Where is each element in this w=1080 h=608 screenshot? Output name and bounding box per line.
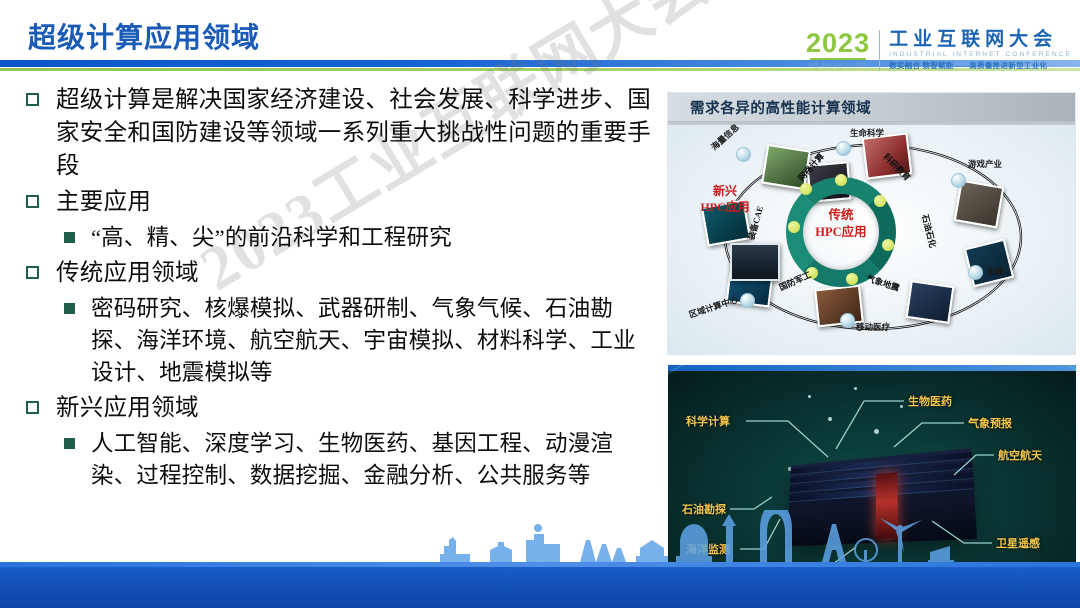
outer-label-gaming: 游戏产业: [968, 158, 1002, 170]
bullet-square-solid-icon: [64, 438, 75, 449]
city-skyline-graphic: [430, 510, 970, 562]
outer-label-mobile-health: 移动医疗: [856, 321, 890, 333]
page-title: 超级计算应用领域: [28, 16, 260, 56]
bullet-square-hollow-icon: [26, 93, 39, 106]
server-rack-icon: [730, 243, 780, 281]
emerging-hpc-line2: HPC应用: [700, 200, 749, 214]
orbit-node-icon: [836, 141, 851, 156]
callout-label-scientific-computing: 科学计算: [686, 413, 730, 429]
hpc-domains-diagram: 需求各异的高性能计算领域 传统 HP: [667, 92, 1076, 355]
bullet-list: 超级计算是解决国家经济建设、社会发展、科学进步、国家安全和国防建设等领域一系列重…: [26, 84, 656, 495]
conference-logo: 2023 中国·苏州 8月11日-13日 工业互联网大会 INDUSTRIAL …: [806, 30, 1072, 71]
list-item: 人工智能、深度学习、生物医药、基因工程、动漫渲染、过程控制、数据挖掘、金融分析、…: [64, 428, 656, 492]
callout-label-biopharma: 生物医药: [908, 393, 952, 409]
list-item-label: 密码研究、核爆模拟、武器研制、气象气候、石油勘探、海洋环境、航空航天、宇宙模拟、…: [91, 293, 656, 389]
list-item: 主要应用: [26, 186, 656, 219]
logo-year-underline: [810, 58, 866, 60]
list-item: 超级计算是解决国家经济建设、社会发展、科学进步、国家安全和国防建设等领域一系列重…: [26, 84, 656, 183]
bullet-square-hollow-icon: [26, 266, 39, 279]
emerging-hpc-line1: 新兴: [713, 184, 737, 198]
bottom-banner: [0, 562, 1080, 608]
diagram-header-bar: 需求各异的高性能计算领域: [668, 93, 1075, 125]
list-item: 传统应用领域: [26, 257, 656, 290]
orbit-node-icon: [968, 265, 983, 280]
ring-node-icon: [874, 195, 886, 207]
logo-year: 2023: [806, 30, 870, 57]
callout-label-aerospace: 航空航天: [998, 447, 1042, 463]
bullet-square-solid-icon: [64, 303, 75, 314]
ring-center-line1: 传统: [828, 208, 853, 222]
logo-name-en: INDUSTRIAL INTERNET CONFERENCE: [889, 51, 1072, 58]
logo-name-block: 工业互联网大会 INDUSTRIAL INTERNET CONFERENCE 数…: [889, 30, 1072, 71]
outer-label-life-science: 生命科学: [850, 127, 884, 139]
orbit-node-icon: [736, 147, 751, 162]
logo-year-block: 2023 中国·苏州 8月11日-13日: [806, 30, 879, 69]
diagram-title: 需求各异的高性能计算领域: [690, 97, 871, 118]
bullet-square-hollow-icon: [26, 401, 39, 414]
callout-label-satellite-remote-sensing: 卫星遥感: [996, 535, 1040, 551]
list-item-label: 人工智能、深度学习、生物医药、基因工程、动漫渲染、过程控制、数据挖掘、金融分析、…: [91, 428, 656, 492]
diagram-canvas: 传统 HPC应用 新兴 HPC应用 网格计算 科研教育 石油石化 气象地震 国防…: [668, 125, 1075, 355]
list-item-label: 主要应用: [56, 186, 151, 219]
orbit-node-icon: [840, 313, 855, 328]
ring-node-icon: [800, 183, 812, 195]
ring-node-icon: [846, 273, 858, 285]
logo-divider: [879, 30, 880, 71]
banner-highlight: [0, 562, 1080, 567]
list-item-label: 新兴应用领域: [56, 392, 199, 425]
list-item-label: “高、精、尖”的前沿科学和工程研究: [91, 222, 452, 254]
list-item: 新兴应用领域: [26, 392, 656, 425]
logo-place-date: 中国·苏州 8月11日-13日: [806, 62, 870, 69]
callout-label-weather-forecast: 气象预报: [968, 415, 1012, 431]
logo-name-cn: 工业互联网大会: [889, 30, 1072, 50]
orbit-node-icon: [740, 293, 755, 308]
bullet-square-hollow-icon: [26, 195, 39, 208]
thumbnail-tile: [906, 280, 955, 324]
ring-center-line2: HPC应用: [815, 225, 866, 239]
list-item-label: 传统应用领域: [56, 257, 199, 290]
bullet-square-solid-icon: [64, 232, 75, 243]
orbit-node-icon: [951, 173, 966, 188]
list-item: “高、精、尖”的前沿科学和工程研究: [64, 222, 656, 254]
ring-center-label: 传统 HPC应用: [786, 207, 896, 241]
logo-slogan: 数实融合 数智赋能——高质量推进新型工业化: [889, 60, 1072, 71]
list-item: 密码研究、核爆模拟、武器研制、气象气候、石油勘探、海洋环境、航空航天、宇宙模拟、…: [64, 293, 656, 389]
list-item-label: 超级计算是解决国家经济建设、社会发展、科学进步、国家安全和国防建设等领域一系列重…: [56, 84, 656, 183]
outer-label-finance: 金融: [986, 265, 1003, 277]
ring-node-icon: [835, 174, 847, 186]
